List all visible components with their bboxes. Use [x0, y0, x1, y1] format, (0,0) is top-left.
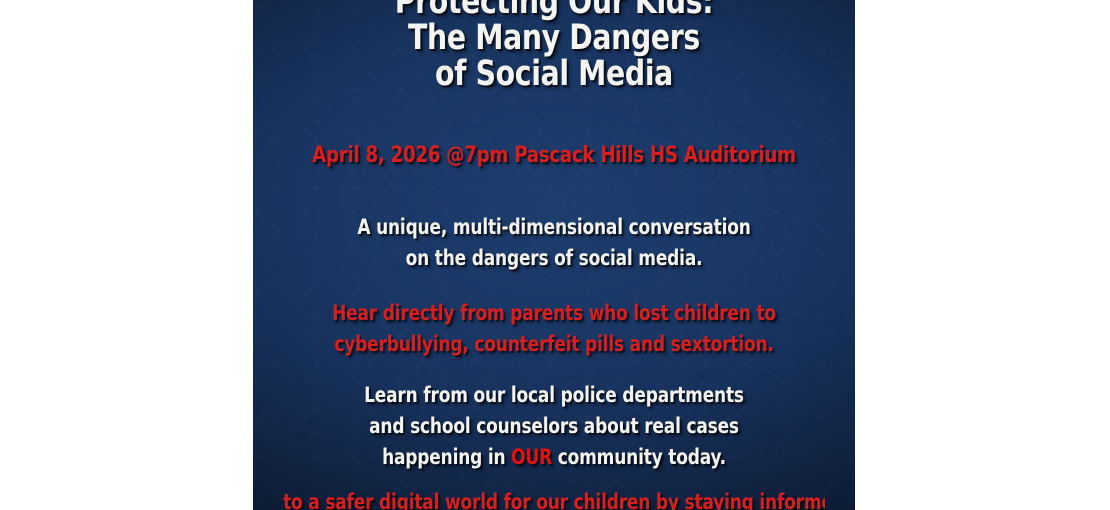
description-paragraph: A unique, multi-dimensional conversation…: [253, 212, 855, 274]
parents-testimony-line-1: Hear directly from parents who lost chil…: [283, 298, 825, 329]
title-line-1: Protecting Our Kids:: [283, 0, 825, 20]
parents-testimony-paragraph: Hear directly from parents who lost chil…: [253, 298, 855, 360]
title-line-3: of Social Media: [283, 56, 825, 92]
community-highlight-our: OUR: [511, 445, 552, 469]
letterbox-right: [855, 0, 1110, 510]
community-text-after: community today.: [552, 445, 726, 469]
event-date-venue: April 8, 2026 @7pm Pascack Hills HS Audi…: [283, 144, 825, 167]
description-line-2: on the dangers of social media.: [283, 243, 825, 274]
clipped-bottom-line: to a safer digital world for our childre…: [283, 492, 825, 510]
police-counselors-line-3: happening in OUR community today.: [283, 442, 825, 473]
poster-title: Protecting Our Kids: The Many Dangers of…: [253, 0, 855, 92]
screenshot-stage: Protecting Our Kids: The Many Dangers of…: [0, 0, 1110, 510]
title-line-2: The Many Dangers: [283, 20, 825, 56]
police-counselors-line-2: and school counselors about real cases: [283, 411, 825, 442]
police-counselors-paragraph: Learn from our local police departments …: [253, 380, 855, 473]
community-text-before: happening in: [382, 445, 511, 469]
description-line-1: A unique, multi-dimensional conversation: [283, 212, 825, 243]
poster-content: Protecting Our Kids: The Many Dangers of…: [253, 0, 855, 510]
police-counselors-line-1: Learn from our local police departments: [283, 380, 825, 411]
parents-testimony-line-2: cyberbullying, counterfeit pills and sex…: [283, 329, 825, 360]
letterbox-left: [0, 0, 253, 510]
event-flyer-poster: Protecting Our Kids: The Many Dangers of…: [253, 0, 855, 510]
